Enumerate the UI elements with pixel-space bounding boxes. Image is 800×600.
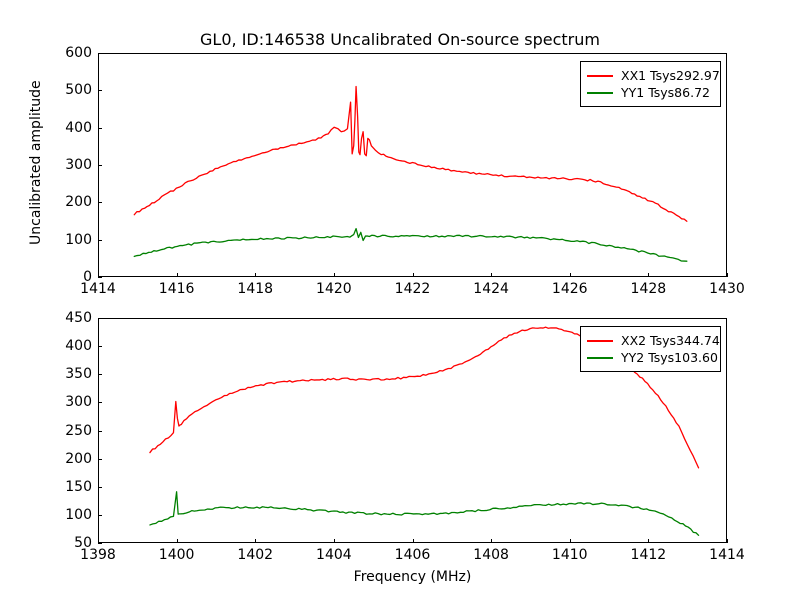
y-tick-label: 350 <box>36 366 92 382</box>
y-tick-mark <box>98 402 102 403</box>
y-tick-label: 600 <box>36 45 92 61</box>
x-tick-label: 1426 <box>552 281 588 297</box>
y-tick-label: 400 <box>36 338 92 354</box>
matplotlib-figure: GL0, ID:146538 Uncalibrated On-source sp… <box>0 0 800 600</box>
y-tick-label: 100 <box>36 232 92 248</box>
y-tick-label: 200 <box>36 194 92 210</box>
spectrum-line <box>134 229 687 262</box>
y-tick-mark <box>98 165 102 166</box>
x-tick-mark <box>177 539 178 543</box>
y-tick-mark <box>98 128 102 129</box>
x-tick-label: 1410 <box>552 547 588 563</box>
y-tick-mark <box>98 431 102 432</box>
y-tick-label: 400 <box>36 120 92 136</box>
legend-entry: YY2 Tsys103.60 <box>587 349 714 366</box>
x-tick-mark <box>413 539 414 543</box>
x-tick-label: 1412 <box>631 547 667 563</box>
y-tick-label: 150 <box>36 479 92 495</box>
legend-label: XX2 Tsys344.74 <box>621 333 720 348</box>
y-tick-label: 450 <box>36 310 92 326</box>
x-tick-label: 1406 <box>395 547 431 563</box>
legend-color-swatch <box>587 340 613 342</box>
x-tick-label: 1414 <box>709 547 745 563</box>
y-tick-mark <box>98 459 102 460</box>
x-tick-mark <box>255 539 256 543</box>
y-tick-label: 500 <box>36 82 92 98</box>
x-axis-label: Frequency (MHz) <box>98 569 727 585</box>
x-tick-mark <box>98 539 99 543</box>
x-tick-mark <box>491 539 492 543</box>
x-tick-label: 1414 <box>80 281 116 297</box>
legend-color-swatch <box>587 75 613 77</box>
y-tick-mark <box>98 240 102 241</box>
y-tick-mark <box>98 53 102 54</box>
x-tick-label: 1402 <box>237 547 273 563</box>
x-tick-mark <box>648 273 649 277</box>
legend-color-swatch <box>587 357 613 359</box>
x-tick-label: 1422 <box>395 281 431 297</box>
x-tick-mark <box>491 273 492 277</box>
x-tick-mark <box>570 539 571 543</box>
y-tick-mark <box>98 515 102 516</box>
y-tick-label: 300 <box>36 157 92 173</box>
x-tick-mark <box>334 539 335 543</box>
top-legend: XX1 Tsys292.97YY1 Tsys86.72 <box>580 61 721 107</box>
legend-entry: YY1 Tsys86.72 <box>587 84 714 101</box>
x-tick-mark <box>570 273 571 277</box>
x-tick-label: 1430 <box>709 281 745 297</box>
legend-entry: XX2 Tsys344.74 <box>587 332 714 349</box>
x-tick-label: 1420 <box>316 281 352 297</box>
y-tick-label: 100 <box>36 507 92 523</box>
x-tick-mark <box>177 273 178 277</box>
y-tick-mark <box>98 90 102 91</box>
x-tick-mark <box>727 273 728 277</box>
x-tick-label: 1424 <box>473 281 509 297</box>
x-tick-label: 1428 <box>631 281 667 297</box>
x-tick-label: 1416 <box>159 281 195 297</box>
x-tick-mark <box>413 273 414 277</box>
figure-title: GL0, ID:146538 Uncalibrated On-source sp… <box>0 30 800 49</box>
y-tick-mark <box>98 277 102 278</box>
x-tick-label: 1400 <box>159 547 195 563</box>
x-tick-mark <box>648 539 649 543</box>
y-tick-mark <box>98 543 102 544</box>
y-tick-mark <box>98 374 102 375</box>
x-tick-mark <box>334 273 335 277</box>
y-tick-label: 300 <box>36 394 92 410</box>
legend-color-swatch <box>587 92 613 94</box>
x-tick-label: 1404 <box>316 547 352 563</box>
x-tick-label: 1398 <box>80 547 116 563</box>
y-tick-mark <box>98 487 102 488</box>
y-tick-mark <box>98 202 102 203</box>
bottom-legend: XX2 Tsys344.74YY2 Tsys103.60 <box>580 326 721 372</box>
legend-label: YY1 Tsys86.72 <box>621 85 710 100</box>
y-tick-mark <box>98 318 102 319</box>
y-tick-label: 200 <box>36 451 92 467</box>
legend-label: XX1 Tsys292.97 <box>621 68 720 83</box>
x-tick-mark <box>98 273 99 277</box>
legend-entry: XX1 Tsys292.97 <box>587 67 714 84</box>
x-tick-label: 1408 <box>473 547 509 563</box>
x-tick-label: 1418 <box>237 281 273 297</box>
y-tick-label: 250 <box>36 423 92 439</box>
legend-label: YY2 Tsys103.60 <box>621 350 718 365</box>
x-tick-mark <box>255 273 256 277</box>
y-tick-mark <box>98 346 102 347</box>
x-tick-mark <box>727 539 728 543</box>
spectrum-line <box>150 492 699 535</box>
